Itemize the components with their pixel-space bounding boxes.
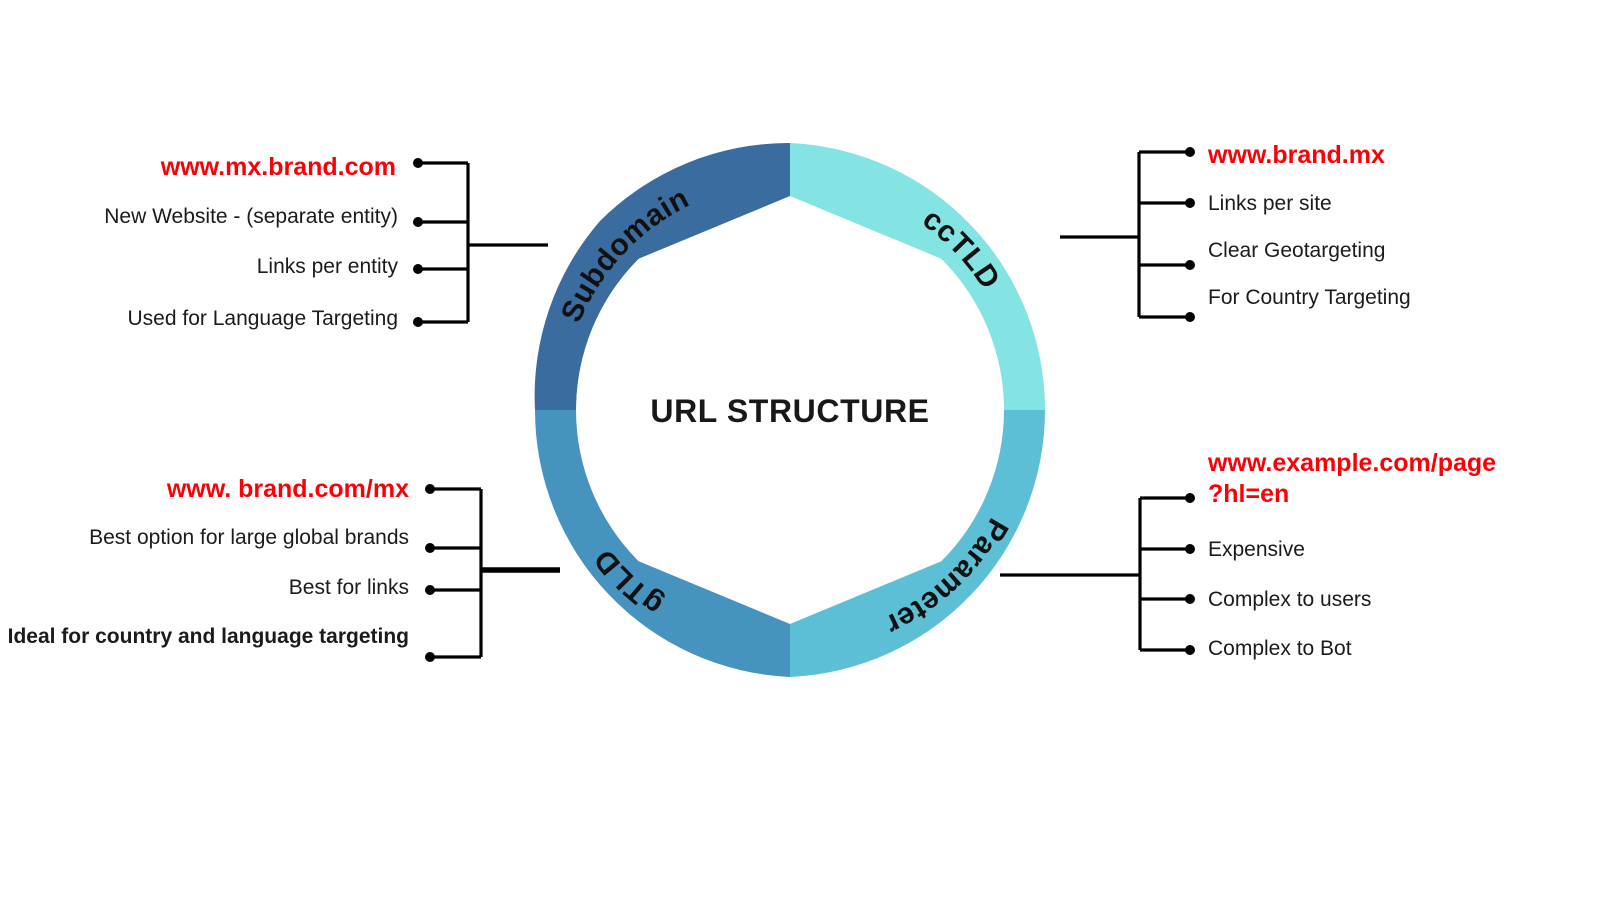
callout-cctld-heading: www.brand.mx: [1208, 139, 1385, 171]
connector-dot: [1185, 645, 1195, 655]
callout-parameter-heading-line1: www.example.com/page: [1208, 449, 1496, 477]
connector-dot: [1185, 147, 1195, 157]
connector-dot: [413, 264, 423, 274]
callout-parameter-heading-line2: ?hl=en: [1208, 480, 1289, 508]
callout-gtld-item-2: Ideal for country and language targeting: [0, 624, 409, 651]
connector-dot: [425, 585, 435, 595]
callout-cctld-item-0: Links per site: [1208, 191, 1332, 218]
callout-gtld-item-0: Best option for large global brands: [0, 525, 409, 552]
callout-parameter-item-0: Expensive: [1208, 537, 1305, 564]
connector-dot: [425, 543, 435, 553]
callout-subdomain-item-0: New Website - (separate entity): [0, 204, 398, 231]
connector-dot: [413, 217, 423, 227]
donut-segment-gtld[interactable]: [535, 410, 790, 677]
callout-parameter-item-1: Complex to users: [1208, 587, 1371, 614]
connector-dot: [1185, 594, 1195, 604]
connector-cctld: [1060, 147, 1195, 322]
callout-cctld-item-1: Clear Geotargeting: [1208, 238, 1385, 265]
center-title: URL STRUCTURE: [650, 393, 929, 429]
diagram-canvas: Subdomain ccTLD Parameter gTLD URL STRUC…: [0, 0, 1600, 900]
donut-segment-cctld[interactable]: [790, 143, 1045, 410]
connector-parameter: [1000, 493, 1195, 655]
segment-label-parameter: Parameter: [880, 513, 1014, 642]
callout-cctld-item-2: For Country Targeting: [1208, 285, 1411, 312]
callout-gtld-heading: www. brand.com/mx: [0, 473, 409, 505]
callout-parameter-item-2: Complex to Bot: [1208, 636, 1352, 663]
connector-dot: [1185, 312, 1195, 322]
connector-dot: [1185, 198, 1195, 208]
donut-segment-parameter[interactable]: [790, 410, 1045, 677]
connector-dot: [1185, 260, 1195, 270]
connector-gtld: [425, 484, 560, 662]
callout-parameter-heading: www.example.com/page?hl=en: [1208, 448, 1560, 509]
connector-dot: [425, 652, 435, 662]
connector-dot: [413, 158, 423, 168]
callout-subdomain-heading: www.mx.brand.com: [0, 151, 396, 183]
connector-dot: [425, 484, 435, 494]
connector-dot: [413, 317, 423, 327]
callout-subdomain-item-2: Used for Language Targeting: [0, 306, 398, 333]
connector-dot: [1185, 493, 1195, 503]
connector-subdomain: [413, 158, 548, 327]
callout-gtld-item-1: Best for links: [0, 575, 409, 602]
donut-segment-subdomain-fill: [535, 143, 790, 410]
connector-dot: [1185, 544, 1195, 554]
callout-subdomain-item-1: Links per entity: [0, 254, 398, 281]
